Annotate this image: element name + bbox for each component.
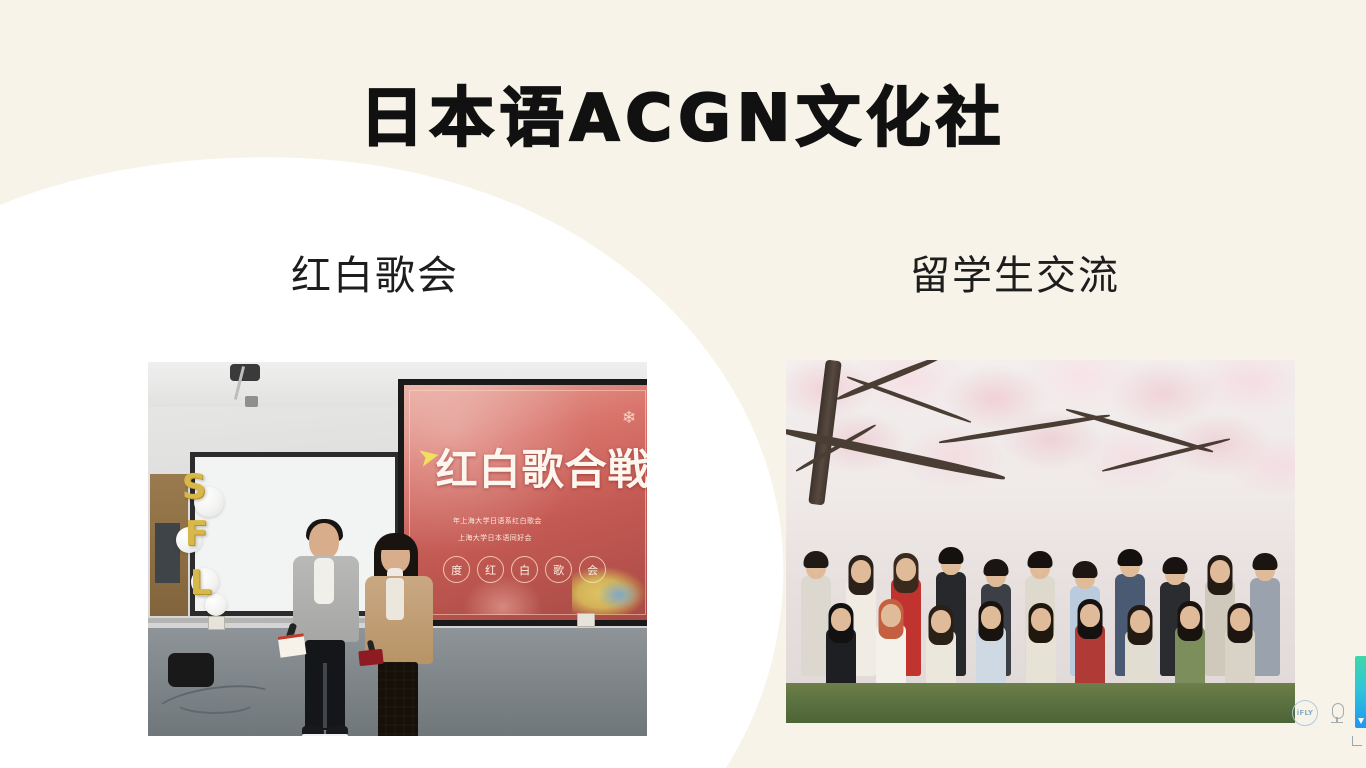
microphone-base [1331, 722, 1343, 723]
member-hair [983, 559, 1008, 576]
member-head [851, 560, 871, 583]
screen-subtitle-secondary: 上海大学日本语同好会 [458, 533, 532, 543]
host-female-lapel [386, 578, 404, 620]
group-member [926, 610, 956, 694]
plum-blossom-icon: ❄ [622, 408, 636, 428]
member-hair [1118, 549, 1143, 566]
projector-icon [230, 364, 260, 381]
member-head [1230, 608, 1250, 631]
chevron-down-icon[interactable] [1358, 718, 1364, 724]
group-member [876, 604, 906, 694]
host-male-head [309, 523, 339, 559]
circled-character: 红 [477, 556, 504, 583]
group-member [976, 606, 1006, 694]
host-male-shirt [314, 558, 334, 604]
award-folder [358, 649, 383, 666]
floor-cable [173, 688, 257, 714]
slide-title: 日本语ACGN文化社 [0, 86, 1366, 153]
host-female [353, 538, 445, 736]
host-male-leg-gap [323, 663, 327, 728]
host-male-shoe-sole [302, 734, 348, 736]
member-hair [1252, 553, 1277, 570]
member-head [1130, 610, 1150, 633]
photo-exchange-group[interactable] [786, 360, 1295, 723]
group-member [826, 608, 856, 694]
wall-outlet [208, 616, 225, 630]
member-head [1031, 608, 1051, 631]
door-window [155, 523, 180, 583]
group-member [1225, 608, 1255, 694]
member-head [1180, 606, 1200, 629]
member-hair [803, 551, 828, 568]
recorder-watermark-group[interactable]: iFLY [1292, 700, 1348, 726]
screen-title: 红白歌合戦 [436, 436, 647, 497]
host-female-fringe [378, 535, 413, 550]
circled-character: 会 [579, 556, 606, 583]
member-head [931, 610, 951, 633]
backpack-icon [168, 653, 214, 687]
screen-subtitle-primary: 年上海大学日语系红白歌会 [453, 516, 542, 526]
host-female-trousers [378, 662, 418, 736]
presentation-slide: 日本语ACGN文化社 红白歌会 留学生交流 S F L [0, 0, 1366, 768]
projector-lens [245, 396, 258, 407]
circled-character: 度 [443, 556, 470, 583]
circled-character: 白 [511, 556, 538, 583]
screen-circled-characters: 度 红 白 歌 会 [443, 556, 606, 583]
balloon-letter-f: F [185, 517, 208, 551]
group-member [1026, 608, 1056, 694]
group-member [1125, 610, 1155, 694]
iflytek-badge-icon[interactable]: iFLY [1292, 700, 1318, 726]
microphone-capsule [1332, 703, 1344, 719]
member-hair [1073, 561, 1098, 578]
script-paper [277, 633, 306, 657]
resize-corner-icon[interactable] [1352, 736, 1362, 746]
section-caption-hongbai: 红白歌会 [291, 243, 459, 301]
member-hair [1028, 551, 1053, 568]
balloon-letter-s: S [182, 470, 207, 504]
circled-character: 歌 [545, 556, 572, 583]
photo-hongbai-content: S F L ➤ ❄ 红白歌合戦 年上海大学日语系红白歌会 上海大学日本语同好会 … [148, 362, 647, 736]
cloud-decor-blue [597, 580, 641, 610]
grass-foreground [786, 683, 1295, 723]
photo-hongbai-event[interactable]: S F L ➤ ❄ 红白歌合戦 年上海大学日语系红白歌会 上海大学日本语同好会 … [148, 362, 647, 736]
member-head [896, 558, 916, 581]
photo-exchange-content [786, 360, 1295, 723]
microphone-icon[interactable] [1326, 701, 1348, 725]
wall-outlet [577, 613, 595, 627]
section-caption-exchange: 留学生交流 [910, 243, 1120, 301]
group-member [1075, 604, 1105, 694]
member-head [981, 606, 1001, 629]
member-head [1080, 604, 1100, 627]
member-hair [938, 547, 963, 564]
member-head [1210, 560, 1230, 583]
member-head [831, 608, 851, 631]
member-head [881, 604, 901, 627]
member-hair [1163, 557, 1188, 574]
group-member [1175, 606, 1205, 694]
balloon-letter-l: L [190, 566, 212, 600]
